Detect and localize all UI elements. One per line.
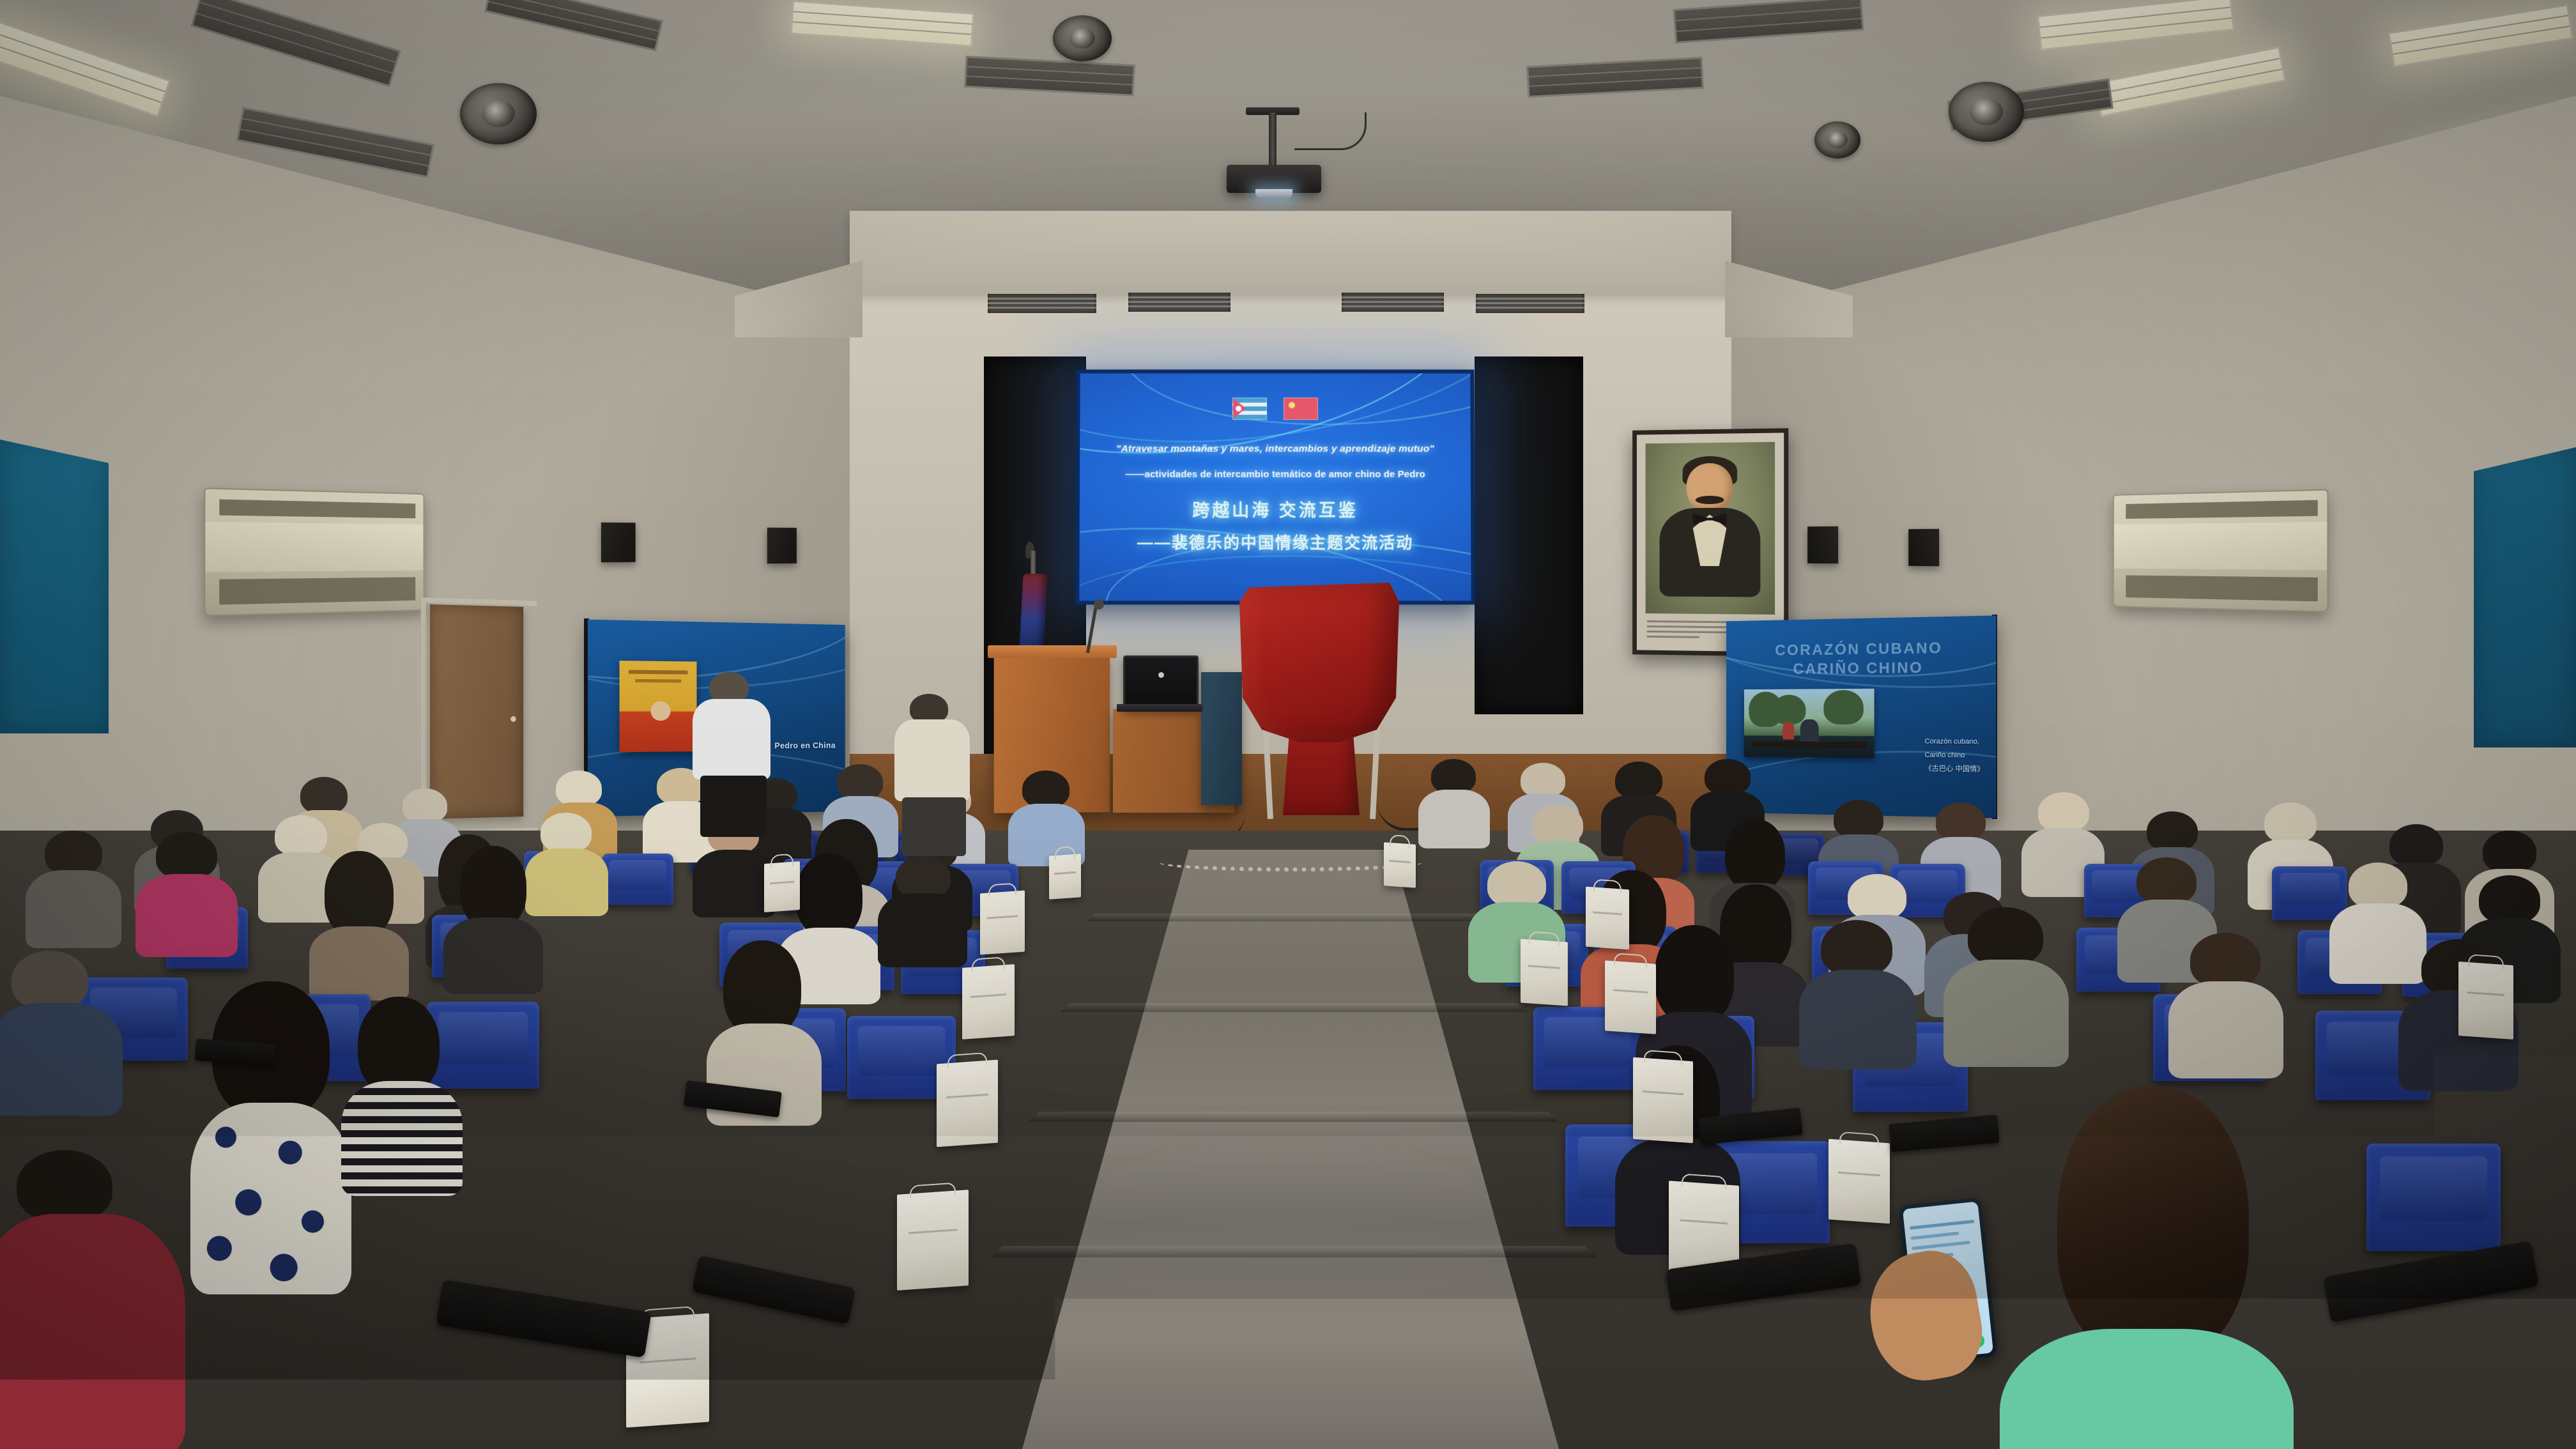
gift-tote-bag[interactable] — [1828, 1139, 1890, 1224]
projector-pole — [1269, 112, 1276, 167]
gift-tote-bag[interactable] — [1605, 960, 1656, 1034]
gift-tote-bag[interactable] — [1521, 939, 1568, 1006]
wall-speaker-icon — [767, 528, 797, 563]
projection-screen: "Atravesar montañas y mares, intercambio… — [1075, 369, 1475, 604]
accent-panel-left — [0, 440, 109, 733]
air-vent-grille — [1128, 293, 1230, 312]
wall-speaker-icon — [1908, 529, 1939, 566]
slide-chinese-subtitle: ——裴德乐的中国情缘主题交流活动 — [1091, 530, 1460, 553]
right-roll-up-banner: CORAZÓN CUBANO CARIÑO CHINO Corazón cuba… — [1726, 615, 1996, 818]
aisle-step — [990, 1246, 1597, 1257]
projector-cable — [1294, 112, 1367, 150]
slide-spanish-title: "Atravesar montañas y mares, intercambio… — [1091, 443, 1459, 455]
ceiling-speaker-icon — [1053, 15, 1112, 61]
air-vent-grille — [1476, 294, 1584, 313]
gift-tote-bag[interactable] — [980, 891, 1025, 955]
projected-slide: "Atravesar montañas y mares, intercambio… — [1079, 373, 1471, 601]
seat[interactable] — [602, 854, 673, 905]
seat[interactable] — [427, 1002, 539, 1089]
red-draped-unveiling-object — [1239, 583, 1399, 742]
air-vent-grille — [1342, 293, 1444, 312]
podium-top — [988, 645, 1117, 658]
air-conditioner-left — [204, 487, 424, 617]
rope-barrier — [1160, 854, 1422, 871]
wall-speaker-icon — [1807, 526, 1838, 563]
gift-tote-bag[interactable] — [1384, 842, 1416, 887]
auditorium-photo: "Atravesar montañas y mares, intercambio… — [0, 0, 2576, 1449]
gift-tote-bag[interactable] — [764, 861, 800, 912]
projector-lens-icon — [1255, 189, 1292, 198]
slide-spanish-subtitle: ——actividades de intercambio temático de… — [1091, 469, 1459, 480]
banner-right-title: CORAZÓN CUBANO CARIÑO CHINO — [1726, 638, 1996, 679]
banner-right-photo — [1744, 689, 1874, 758]
aisle-step — [1086, 914, 1501, 921]
laptop-base — [1117, 704, 1202, 712]
cuba-flag-icon — [1232, 397, 1267, 420]
banner-right-captions: Corazón cubano, Cariño chino 《古巴心 中国情》 — [1925, 735, 1984, 776]
seat[interactable] — [2272, 866, 2347, 920]
gift-tote-bag[interactable] — [962, 964, 1015, 1039]
air-vent-grille — [988, 294, 1096, 313]
gift-tote-bag[interactable] — [897, 1190, 969, 1291]
banner-left-caption: Pedro en China — [774, 740, 835, 750]
slide-text-block: "Atravesar montañas y mares, intercambio… — [1091, 443, 1460, 553]
gift-tote-bag[interactable] — [1049, 854, 1081, 899]
slide-chinese-title: 跨越山海 交流互鉴 — [1091, 496, 1459, 521]
exit-door[interactable] — [430, 604, 523, 819]
gift-tote-bag[interactable] — [1586, 887, 1629, 950]
air-conditioner-right — [2113, 489, 2328, 612]
aisle-step — [1061, 1003, 1527, 1012]
slide-flag-row — [1080, 397, 1470, 420]
proscenium-panel-right — [1475, 356, 1583, 714]
equipment-rack — [1201, 672, 1242, 805]
wall-speaker-icon — [601, 523, 636, 563]
aisle-step — [1029, 1112, 1559, 1122]
gift-tote-bag[interactable] — [2458, 962, 2513, 1039]
stage-soffit — [850, 211, 1731, 294]
ceiling-speaker-icon — [1949, 82, 2024, 142]
china-flag-icon — [1284, 397, 1318, 420]
portrait-image — [1646, 442, 1775, 615]
ceiling-speaker-icon — [460, 83, 537, 144]
ceiling-speaker-icon — [1814, 121, 1860, 158]
book-cover-image — [620, 661, 697, 752]
accent-panel-right — [2474, 447, 2576, 747]
seat[interactable] — [2366, 1144, 2501, 1251]
gift-tote-bag[interactable] — [1633, 1057, 1693, 1144]
portrait-mat — [1637, 433, 1784, 652]
laptop[interactable] — [1123, 655, 1199, 709]
microphone-icon — [1094, 599, 1104, 609]
gift-tote-bag[interactable] — [937, 1060, 998, 1147]
